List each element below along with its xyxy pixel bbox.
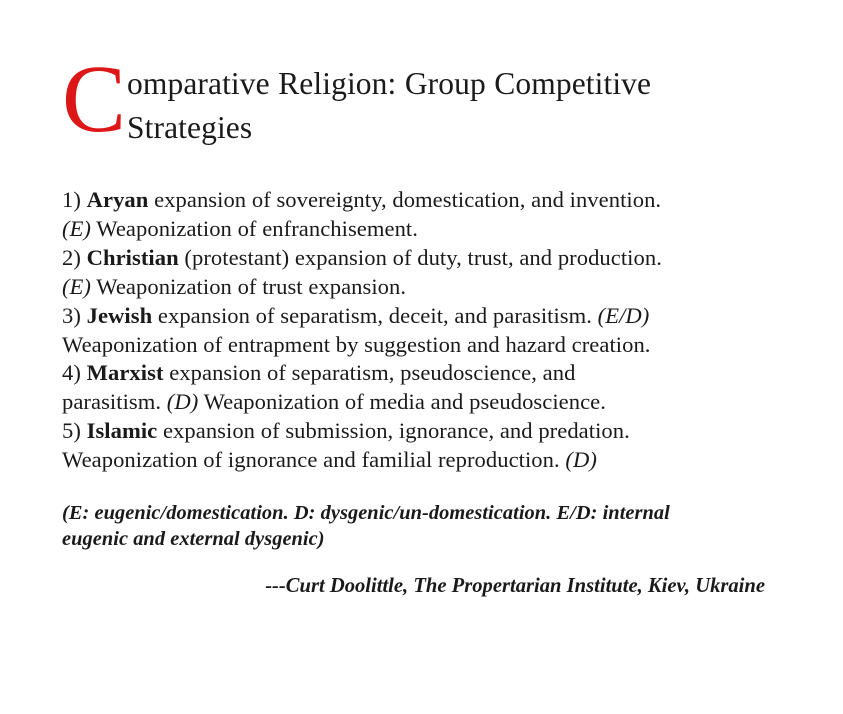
list-item-line: 2) Christian (protestant) expansion of d… <box>62 244 822 273</box>
list-item-line: parasitism. (D) Weaponization of media a… <box>62 388 822 417</box>
item-number: 1) <box>62 187 81 212</box>
list-item: 3) Jewish expansion of separatism, decei… <box>62 302 822 360</box>
list-item-line: Weaponization of ignorance and familial … <box>62 446 822 475</box>
item-marker: (E) <box>62 274 91 299</box>
item-text: expansion of separatism, pseudoscience, … <box>164 360 576 385</box>
item-text: Weaponization of trust expansion. <box>91 274 406 299</box>
item-number: 3) <box>62 303 81 328</box>
item-text: expansion of submission, ignorance, and … <box>157 418 630 443</box>
page-title-text: omparative Religion: Group Competitive S… <box>62 62 782 150</box>
page-title: C omparative Religion: Group Competitive… <box>62 62 782 150</box>
list-item: 2) Christian (protestant) expansion of d… <box>62 244 822 302</box>
attribution: ---Curt Doolittle, The Propertarian Inst… <box>62 573 765 599</box>
item-text: Weaponization of ignorance and familial … <box>62 447 565 472</box>
item-marker: (E/D) <box>598 303 650 328</box>
item-marker: (D) <box>167 389 199 414</box>
item-text: expansion of separatism, deceit, and par… <box>152 303 597 328</box>
list-item-line: 1) Aryan expansion of sovereignty, domes… <box>62 186 822 215</box>
page-title-line-1: omparative Religion: Group Competitive <box>62 62 782 106</box>
legend-line-2: eugenic and external dysgenic) <box>62 526 782 552</box>
list-item-line: 5) Islamic expansion of submission, igno… <box>62 417 822 446</box>
list-item-line: 4) Marxist expansion of separatism, pseu… <box>62 359 822 388</box>
list-item: 5) Islamic expansion of submission, igno… <box>62 417 822 475</box>
item-group-name: Islamic <box>87 418 158 443</box>
list-item-line: (E) Weaponization of enfranchisement. <box>62 215 822 244</box>
item-group-name: Aryan <box>87 187 149 212</box>
item-number: 4) <box>62 360 81 385</box>
list-item-line: 3) Jewish expansion of separatism, decei… <box>62 302 822 331</box>
legend-key: (E: eugenic/domestication. D: dysgenic/u… <box>62 500 782 552</box>
item-marker: (E) <box>62 216 91 241</box>
list-item-line: (E) Weaponization of trust expansion. <box>62 273 822 302</box>
item-group-name: Christian <box>87 245 179 270</box>
item-text: Weaponization of media and pseudoscience… <box>198 389 606 414</box>
item-text: Weaponization of enfranchisement. <box>91 216 418 241</box>
item-number: 2) <box>62 245 81 270</box>
item-text: (protestant) expansion of duty, trust, a… <box>179 245 662 270</box>
item-group-name: Marxist <box>87 360 164 385</box>
item-text: parasitism. <box>62 389 167 414</box>
list-item: 1) Aryan expansion of sovereignty, domes… <box>62 186 822 244</box>
item-number: 5) <box>62 418 81 443</box>
strategy-list: 1) Aryan expansion of sovereignty, domes… <box>62 186 822 475</box>
list-item: 4) Marxist expansion of separatism, pseu… <box>62 359 822 417</box>
item-text: expansion of sovereignty, domestication,… <box>148 187 661 212</box>
item-group-name: Jewish <box>87 303 153 328</box>
list-item-line: Weaponization of entrapment by suggestio… <box>62 331 822 360</box>
slide-canvas: C omparative Religion: Group Competitive… <box>0 0 843 714</box>
legend-line-1: (E: eugenic/domestication. D: dysgenic/u… <box>62 500 782 526</box>
item-marker: (D) <box>565 447 597 472</box>
page-title-line-2: Strategies <box>62 106 782 150</box>
item-text: Weaponization of entrapment by suggestio… <box>62 332 651 357</box>
dropcap-letter: C <box>62 62 125 137</box>
